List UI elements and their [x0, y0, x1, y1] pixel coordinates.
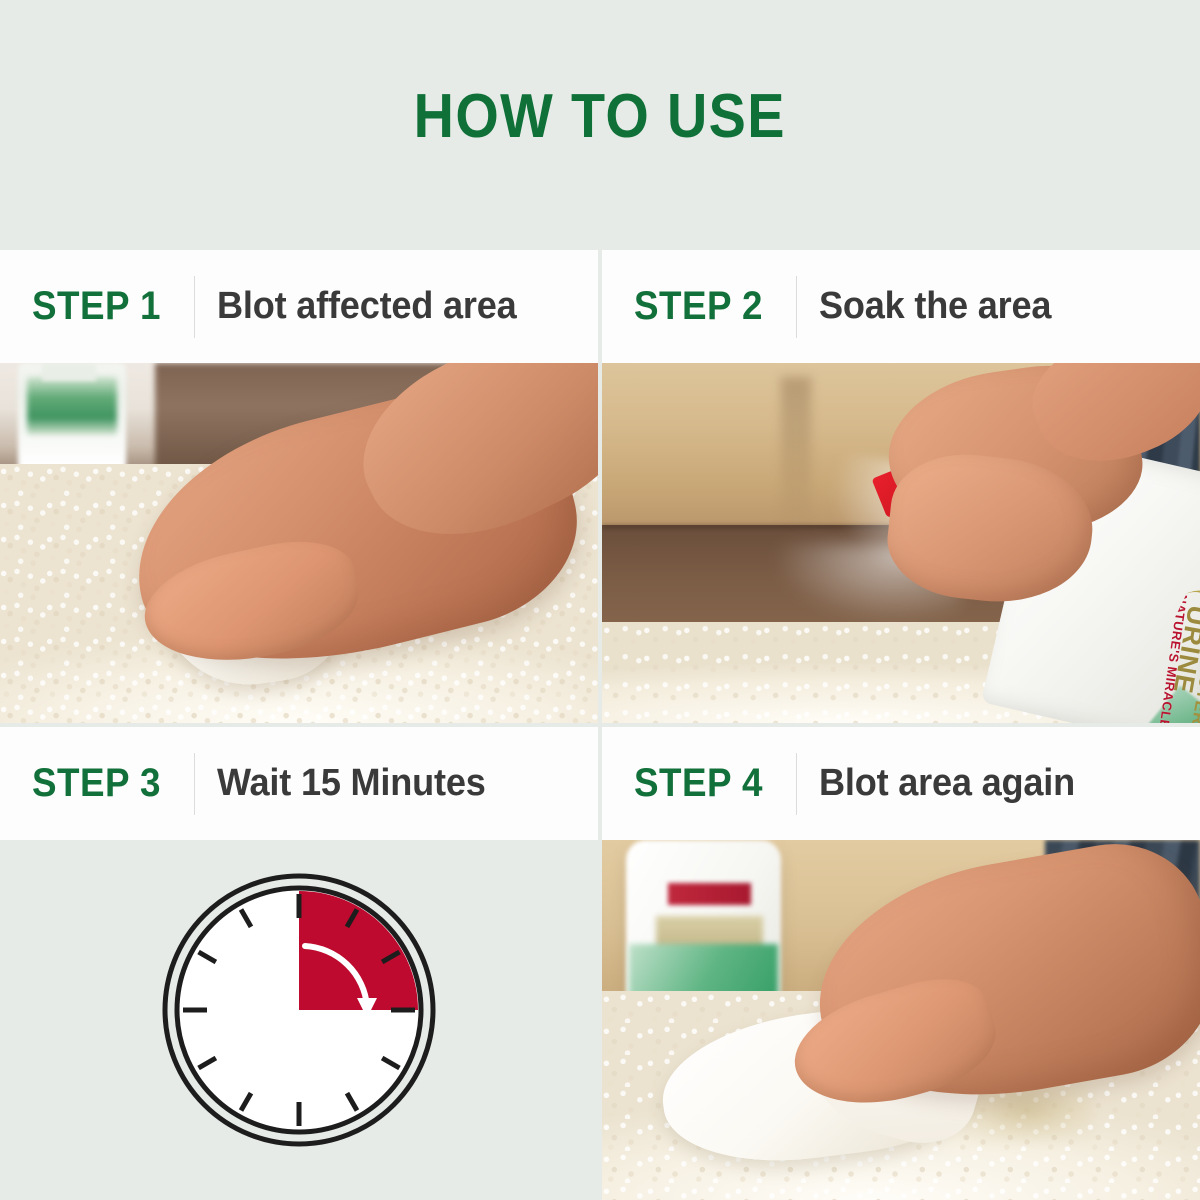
page-title: HOW TO USE	[414, 86, 786, 164]
photo1-bottle-cap	[42, 363, 96, 381]
step-divider-2	[796, 276, 797, 338]
step-header-1: STEP 1 Blot affected area	[0, 250, 598, 363]
step-text-2: Soak the area	[819, 285, 1051, 328]
step-photo-1	[0, 363, 598, 723]
step-header-3: STEP 3 Wait 15 Minutes	[0, 727, 598, 840]
step-photo-4	[602, 840, 1200, 1200]
step-panel-3: STEP 3 Wait 15 Minutes	[0, 727, 598, 1200]
step-label-1: STEP 1	[32, 284, 161, 329]
step-text-1: Blot affected area	[217, 285, 517, 328]
step-header-2: STEP 2 Soak the area	[602, 250, 1200, 363]
step-clock-panel	[0, 840, 598, 1200]
photo2-bottle-label: NATURE'S MIRACLE URINE DESTROYER	[1128, 585, 1200, 723]
step-panel-2: STEP 2 Soak the area NATURE'S	[602, 250, 1200, 723]
step-panel-1: STEP 1 Blot affected area	[0, 250, 598, 723]
step-photo-2: NATURE'S MIRACLE URINE DESTROYER	[602, 363, 1200, 723]
step-label-2: STEP 2	[634, 284, 763, 329]
step-text-4: Blot area again	[819, 762, 1075, 805]
step-divider-3	[194, 753, 195, 815]
step-panel-4: STEP 4 Blot area again	[602, 727, 1200, 1200]
step-text-3: Wait 15 Minutes	[217, 762, 486, 805]
photo4-bottle-brand-band	[668, 883, 752, 905]
step-divider-1	[194, 276, 195, 338]
how-to-use-infographic: HOW TO USE STEP 1 Blot affected area	[0, 0, 1200, 1200]
step-label-3: STEP 3	[32, 761, 161, 806]
clock-svg	[159, 870, 439, 1150]
title-band: HOW TO USE	[0, 0, 1200, 250]
step-header-4: STEP 4 Blot area again	[602, 727, 1200, 840]
step-label-4: STEP 4	[634, 761, 763, 806]
steps-grid: STEP 1 Blot affected area STEP 2	[0, 250, 1200, 1200]
step-divider-4	[796, 753, 797, 815]
clock-icon	[159, 870, 439, 1170]
photo1-bottle-label	[27, 377, 117, 435]
